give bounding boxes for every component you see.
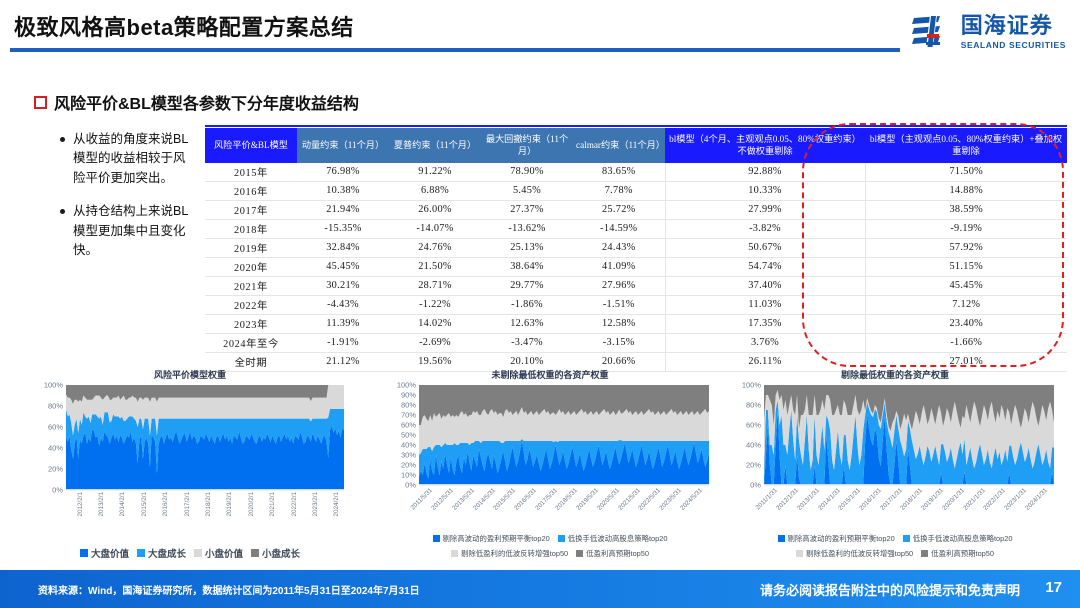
legend-swatch-icon xyxy=(433,535,440,542)
table-cell-value: 7.12% xyxy=(865,295,1067,314)
table-cell-value: 57.92% xyxy=(865,238,1067,257)
chart-y-tick-label: 80% xyxy=(48,402,63,411)
table-col-header-model: 风险平价&BL模型 xyxy=(205,128,297,163)
chart-legend-item: 低换手低波动高股息策略top20 xyxy=(558,533,668,544)
chart-x-tick-label: 2024/2/1 xyxy=(333,492,340,517)
page-title: 极致风格高beta策略配置方案总结 xyxy=(14,10,354,42)
chart-x-tick-label: 2016/1/31 xyxy=(858,487,883,512)
table-cell-value: 30.21% xyxy=(297,276,389,295)
chart-x-tick-label: 2023/1/31 xyxy=(1003,487,1028,512)
chart-y-tick-label: 60% xyxy=(401,421,416,430)
table-cell-year: 2024年至今 xyxy=(205,333,297,352)
chart-title: 风险平价模型权重 xyxy=(30,368,350,381)
legend-swatch-icon xyxy=(576,550,583,557)
table-cell-value: 23.40% xyxy=(865,314,1067,333)
table-cell-value: 10.33% xyxy=(665,181,865,200)
table-cell-year: 2021年 xyxy=(205,276,297,295)
table-cell-value: -1.22% xyxy=(389,295,481,314)
table-header-row: 风险平价&BL模型 动量约束（11个月） 夏普约束（11个月） 最大回撤约束（1… xyxy=(205,128,1067,163)
legend-swatch-icon xyxy=(558,535,565,542)
table-col-header-momentum: 动量约束（11个月） xyxy=(297,128,389,163)
table-cell-value: 76.98% xyxy=(297,163,389,182)
table-cell-year: 2016年 xyxy=(205,181,297,200)
chart-y-tick-label: 70% xyxy=(401,411,416,420)
logo-text-chinese: 国海证券 xyxy=(961,15,1066,37)
chart-legend: 剔除高波动的盈利预期平衡top20低换手低波动高股息策略top20剔除低盈利的低… xyxy=(385,533,715,559)
chart-weights-min-removed: 剔除最低权重的各资产权重 0%20%40%60%80%100% 2011/1/3… xyxy=(730,368,1060,559)
table-row: 2022年-4.43%-1.22%-1.86%-1.51%11.03%7.12% xyxy=(205,295,1067,314)
table-cell-year: 2017年 xyxy=(205,200,297,219)
chart-legend-item: 剔除低盈利的低波反转增强top50 xyxy=(796,548,913,559)
table-cell-value: 12.63% xyxy=(481,314,573,333)
table-cell-year: 2019年 xyxy=(205,238,297,257)
legend-swatch-icon xyxy=(921,550,928,557)
legend-swatch-icon xyxy=(903,535,910,542)
table-cell-value: -3.15% xyxy=(573,333,665,352)
chart-y-tick-label: 20% xyxy=(746,461,761,470)
table-cell-value: -14.07% xyxy=(389,219,481,238)
section-heading: 风险平价&BL模型各参数下分年度收益结构 xyxy=(34,90,359,114)
table-cell-value: 14.02% xyxy=(389,314,481,333)
table-cell-value: 54.74% xyxy=(665,257,865,276)
chart-y-tick-label: 80% xyxy=(401,401,416,410)
chart-x-tick-label: 2015/2/1 xyxy=(141,492,148,517)
chart-legend-item: 小盘价值 xyxy=(194,546,243,560)
chart-y-tick-label: 20% xyxy=(401,461,416,470)
chart-y-tick-label: 40% xyxy=(48,444,63,453)
legend-label: 低盈利高预期top50 xyxy=(586,548,649,559)
footer-bar: 资料来源：Wind，国海证券研究所，数据统计区间为2011年5月31日至2024… xyxy=(0,570,1080,608)
table-cell-value: -1.91% xyxy=(297,333,389,352)
chart-x-axis: 2012/2/12013/2/12014/2/12015/2/12016/2/1… xyxy=(66,490,350,542)
legend-swatch-icon xyxy=(778,535,785,542)
table-cell-value: -1.66% xyxy=(865,333,1067,352)
table-cell-year: 2015年 xyxy=(205,163,297,182)
legend-label: 低换手低波动高股息策略top20 xyxy=(568,533,668,544)
chart-x-tick-label: 2016/5/31 xyxy=(513,487,538,512)
table-cell-value: 10.38% xyxy=(297,181,389,200)
chart-legend: 剔除高波动的盈利预期平衡top20低换手低波动高股息策略top20剔除低盈利的低… xyxy=(730,533,1060,559)
table-cell-value: 27.99% xyxy=(665,200,865,219)
chart-y-tick-label: 0% xyxy=(52,486,63,495)
chart-y-tick-label: 90% xyxy=(401,391,416,400)
table-cell-value: 6.88% xyxy=(389,181,481,200)
table-cell-value: 29.77% xyxy=(481,276,573,295)
chart-x-tick-label: 2022/2/1 xyxy=(291,492,298,517)
chart-y-tick-label: 100% xyxy=(742,381,761,390)
chart-legend-item: 大盘成长 xyxy=(137,546,186,560)
table-cell-value: -1.51% xyxy=(573,295,665,314)
table-cell-value: 92.88% xyxy=(665,163,865,182)
table-cell-year: 2022年 xyxy=(205,295,297,314)
list-item: 从收益的角度来说BL模型的收益相较于风险平价更加突出。 xyxy=(60,130,195,188)
chart-legend-item: 剔除低盈利的低波反转增强top50 xyxy=(451,548,568,559)
chart-risk-parity-weights: 风险平价模型权重 0%20%40%60%80%100% 2012/2/12013… xyxy=(30,368,350,560)
table-body: 2015年76.98%91.22%78.90%83.65%92.88%71.50… xyxy=(205,163,1067,372)
chart-y-tick-label: 0% xyxy=(750,481,761,490)
chart-y-tick-label: 80% xyxy=(746,401,761,410)
table-cell-value: 7.78% xyxy=(573,181,665,200)
chart-plot-area: 0%20%40%60%80%100% xyxy=(66,385,344,490)
chart-legend-item: 低盈利高预期top50 xyxy=(921,548,994,559)
chart-legend-item: 小盘成长 xyxy=(251,546,300,560)
page-number: 17 xyxy=(1045,579,1062,596)
table-cell-value: -13.62% xyxy=(481,219,573,238)
table-cell-value: 38.64% xyxy=(481,257,573,276)
chart-x-tick-label: 2017/2/1 xyxy=(184,492,191,517)
table-cell-year: 2020年 xyxy=(205,257,297,276)
table-cell-value: 5.45% xyxy=(481,181,573,200)
chart-x-axis: 2011/1/312012/1/312013/1/312014/1/312015… xyxy=(764,485,1060,529)
table-cell-value: 11.39% xyxy=(297,314,389,333)
returns-table: 风险平价&BL模型 动量约束（11个月） 夏普约束（11个月） 最大回撤约束（1… xyxy=(205,128,1067,372)
legend-swatch-icon xyxy=(137,549,145,557)
table-cell-value: -9.19% xyxy=(865,219,1067,238)
chart-legend-item: 大盘价值 xyxy=(80,546,129,560)
chart-series-group xyxy=(419,385,709,485)
chart-legend-item: 剔除高波动的盈利预期平衡top20 xyxy=(433,533,550,544)
company-logo: 国海证券 SEALAND SECURITIES xyxy=(910,12,1066,52)
table-row: 2021年30.21%28.71%29.77%27.96%37.40%45.45… xyxy=(205,276,1067,295)
table-cell-value: 51.15% xyxy=(865,257,1067,276)
chart-y-tick-label: 20% xyxy=(48,465,63,474)
table-cell-value: -1.86% xyxy=(481,295,573,314)
legend-swatch-icon xyxy=(194,549,202,557)
chart-x-tick-label: 2012/2/1 xyxy=(77,492,84,517)
footer-disclaimer-text: 请务必阅读报告附注中的风险提示和免责声明 xyxy=(760,580,1020,599)
table-cell-value: 28.71% xyxy=(389,276,481,295)
table-row: 2024年至今-1.91%-2.69%-3.47%-3.15%3.76%-1.6… xyxy=(205,333,1067,352)
table-cell-value: 3.76% xyxy=(665,333,865,352)
legend-swatch-icon xyxy=(251,549,259,557)
legend-label: 大盘价值 xyxy=(91,546,129,560)
square-bullet-icon xyxy=(34,96,47,109)
list-item: 从持仓结构上来说BL模型更加集中且变化快。 xyxy=(60,202,195,260)
legend-swatch-icon xyxy=(451,550,458,557)
chart-x-tick-label: 2019/5/31 xyxy=(575,487,600,512)
table-cell-value: -3.82% xyxy=(665,219,865,238)
table-cell-value: 25.13% xyxy=(481,238,573,257)
table-cell-value: -4.43% xyxy=(297,295,389,314)
chart-plot-area: 0%20%40%60%80%100% xyxy=(764,385,1054,485)
table-cell-value: 25.72% xyxy=(573,200,665,219)
table-col-header-calmar: calmar约束（11个月） xyxy=(573,128,665,163)
table-cell-value: 24.43% xyxy=(573,238,665,257)
legend-swatch-icon xyxy=(80,549,88,557)
table-cell-value: 45.45% xyxy=(865,276,1067,295)
table-cell-value: -2.69% xyxy=(389,333,481,352)
chart-x-tick-label: 2019/1/31 xyxy=(920,487,945,512)
footer-source-text: 资料来源：Wind，国海证券研究所，数据统计区间为2011年5月31日至2024… xyxy=(38,582,420,597)
bullet-text: 从收益的角度来说BL模型的收益相较于风险平价更加突出。 xyxy=(73,130,195,188)
chart-y-tick-label: 60% xyxy=(746,421,761,430)
chart-y-tick-label: 60% xyxy=(48,423,63,432)
table-cell-value: 71.50% xyxy=(865,163,1067,182)
chart-legend-item: 低换手低波动高股息策略top20 xyxy=(903,533,1013,544)
logo-text-english: SEALAND SECURITIES xyxy=(961,40,1066,50)
table-cell-value: -15.35% xyxy=(297,219,389,238)
table-cell-value: 83.65% xyxy=(573,163,665,182)
table-col-header-maxdd: 最大回撤约束（11个月） xyxy=(481,128,573,163)
legend-label: 剔除高波动的盈利预期平衡top20 xyxy=(788,533,895,544)
chart-y-tick-label: 0% xyxy=(405,481,416,490)
chart-series-group xyxy=(66,385,344,490)
legend-label: 低盈利高预期top50 xyxy=(931,548,994,559)
legend-label: 小盘成长 xyxy=(262,546,300,560)
chart-x-axis: 2011/5/312012/5/312013/5/312014/5/312015… xyxy=(419,485,715,529)
bullet-list: 从收益的角度来说BL模型的收益相较于风险平价更加突出。 从持仓结构上来说BL模型… xyxy=(60,130,195,274)
chart-x-tick-label: 2013/2/1 xyxy=(98,492,105,517)
chart-x-tick-label: 2023/2/1 xyxy=(312,492,319,517)
legend-swatch-icon xyxy=(796,550,803,557)
table-cell-year: 2018年 xyxy=(205,219,297,238)
table-cell-year: 2023年 xyxy=(205,314,297,333)
table-row: 2016年10.38%6.88%5.45%7.78%10.33%14.88% xyxy=(205,181,1067,200)
table-col-header-bl-drop: bl模型（主观观点0.05、80%权重约束）+叠加权重剔除 xyxy=(865,128,1067,163)
chart-x-tick-label: 2019/2/1 xyxy=(226,492,233,517)
chart-y-tick-label: 50% xyxy=(401,431,416,440)
table-cell-value: 38.59% xyxy=(865,200,1067,219)
chart-weights-no-min-removal: 未剔除最低权重的各资产权重 0%10%20%30%40%50%60%70%80%… xyxy=(385,368,715,559)
table-cell-value: 45.45% xyxy=(297,257,389,276)
chart-plot-area: 0%10%20%30%40%50%60%70%80%90%100% xyxy=(419,385,709,485)
chart-x-tick-label: 2020/2/1 xyxy=(248,492,255,517)
chart-y-tick-label: 100% xyxy=(44,381,63,390)
table-cell-value: 12.58% xyxy=(573,314,665,333)
table-cell-value: 24.76% xyxy=(389,238,481,257)
table-cell-value: 27.96% xyxy=(573,276,665,295)
chart-legend-item: 低盈利高预期top50 xyxy=(576,548,649,559)
chart-x-tick-label: 2016/2/1 xyxy=(162,492,169,517)
bullet-dot-icon xyxy=(60,137,65,142)
table-row: 2023年11.39%14.02%12.63%12.58%17.35%23.40… xyxy=(205,314,1067,333)
chart-legend: 大盘价值大盘成长小盘价值小盘成长 xyxy=(30,546,350,560)
table-cell-value: 78.90% xyxy=(481,163,573,182)
chart-y-tick-label: 10% xyxy=(401,471,416,480)
table-cell-value: 14.88% xyxy=(865,181,1067,200)
table-cell-value: 21.94% xyxy=(297,200,389,219)
legend-label: 低换手低波动高股息策略top20 xyxy=(913,533,1013,544)
legend-label: 剔除高波动的盈利预期平衡top20 xyxy=(443,533,550,544)
table-row: 2015年76.98%91.22%78.90%83.65%92.88%71.50… xyxy=(205,163,1067,182)
table-cell-value: 50.67% xyxy=(665,238,865,257)
table-cell-value: 17.35% xyxy=(665,314,865,333)
table-row: 2018年-15.35%-14.07%-13.62%-14.59%-3.82%-… xyxy=(205,219,1067,238)
table-row: 2019年32.84%24.76%25.13%24.43%50.67%57.92… xyxy=(205,238,1067,257)
chart-y-tick-label: 30% xyxy=(401,451,416,460)
table-col-header-sharpe: 夏普约束（11个月） xyxy=(389,128,481,163)
table-row: 2017年21.94%26.00%27.37%25.72%27.99%38.59… xyxy=(205,200,1067,219)
chart-series-group xyxy=(764,385,1054,485)
table-row: 2020年45.45%21.50%38.64%41.09%54.74%51.15… xyxy=(205,257,1067,276)
chart-legend-item: 剔除高波动的盈利预期平衡top20 xyxy=(778,533,895,544)
bullet-text: 从持仓结构上来说BL模型更加集中且变化快。 xyxy=(73,202,195,260)
section-heading-text: 风险平价&BL模型各参数下分年度收益结构 xyxy=(54,90,359,114)
chart-title: 剔除最低权重的各资产权重 xyxy=(730,368,1060,381)
table-cell-value: -14.59% xyxy=(573,219,665,238)
chart-x-tick-label: 2023/5/31 xyxy=(658,487,683,512)
title-divider xyxy=(10,48,900,52)
legend-label: 小盘价值 xyxy=(205,546,243,560)
table-cell-value: 26.00% xyxy=(389,200,481,219)
table-cell-value: 91.22% xyxy=(389,163,481,182)
table-col-header-bl-nodrop: bl模型（4个月、主观观点0.05、80%权重约束）不做权重剔除 xyxy=(665,128,865,163)
table-cell-value: 32.84% xyxy=(297,238,389,257)
chart-y-tick-label: 40% xyxy=(746,441,761,450)
chart-x-tick-label: 2018/2/1 xyxy=(205,492,212,517)
table-cell-value: -3.47% xyxy=(481,333,573,352)
chart-x-tick-label: 2014/2/1 xyxy=(119,492,126,517)
table-cell-value: 37.40% xyxy=(665,276,865,295)
chart-y-tick-label: 100% xyxy=(397,381,416,390)
table-cell-value: 11.03% xyxy=(665,295,865,314)
table-cell-value: 27.37% xyxy=(481,200,573,219)
legend-label: 大盘成长 xyxy=(148,546,186,560)
legend-label: 剔除低盈利的低波反转增强top50 xyxy=(461,548,568,559)
table-top-rule xyxy=(205,125,1067,127)
chart-title: 未剔除最低权重的各资产权重 xyxy=(385,368,715,381)
logo-mark-icon xyxy=(910,12,954,52)
chart-y-tick-label: 40% xyxy=(401,441,416,450)
legend-label: 剔除低盈利的低波反转增强top50 xyxy=(806,548,913,559)
chart-x-tick-label: 2021/2/1 xyxy=(269,492,276,517)
table-cell-value: 21.50% xyxy=(389,257,481,276)
table-cell-value: 41.09% xyxy=(573,257,665,276)
bullet-dot-icon xyxy=(60,209,65,214)
